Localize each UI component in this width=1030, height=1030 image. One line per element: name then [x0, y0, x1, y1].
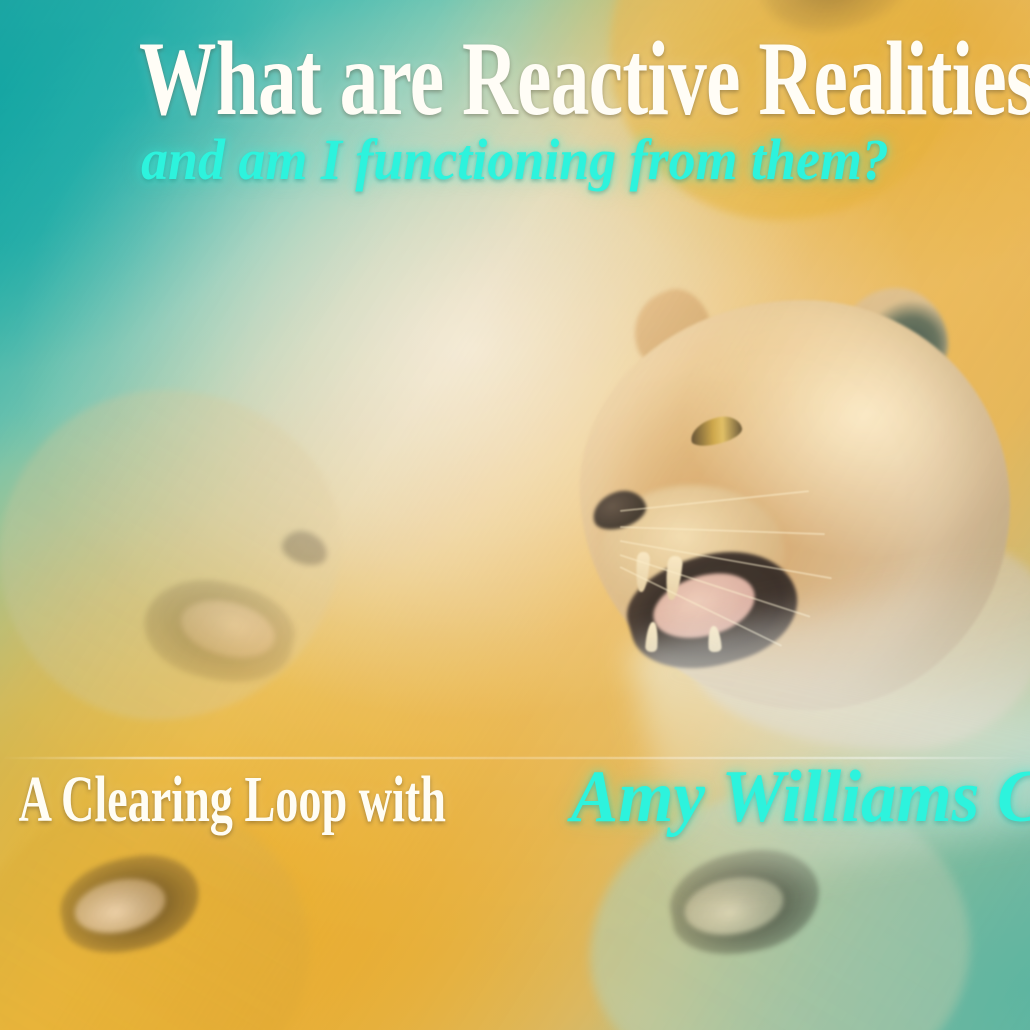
page-title: What are Reactive Realities?: [139, 26, 891, 132]
byline-prefix: A Clearing Loop with: [19, 762, 446, 838]
promo-graphic: What are Reactive Realities? and am I fu…: [0, 0, 1030, 1030]
text-layer: What are Reactive Realities? and am I fu…: [0, 0, 1030, 1030]
byline-presenter-name: Amy Williams CF: [571, 755, 1030, 840]
byline: A Clearing Loop with Amy Williams CF: [0, 755, 1030, 840]
page-subtitle: and am I functioning from them?: [36, 130, 994, 191]
